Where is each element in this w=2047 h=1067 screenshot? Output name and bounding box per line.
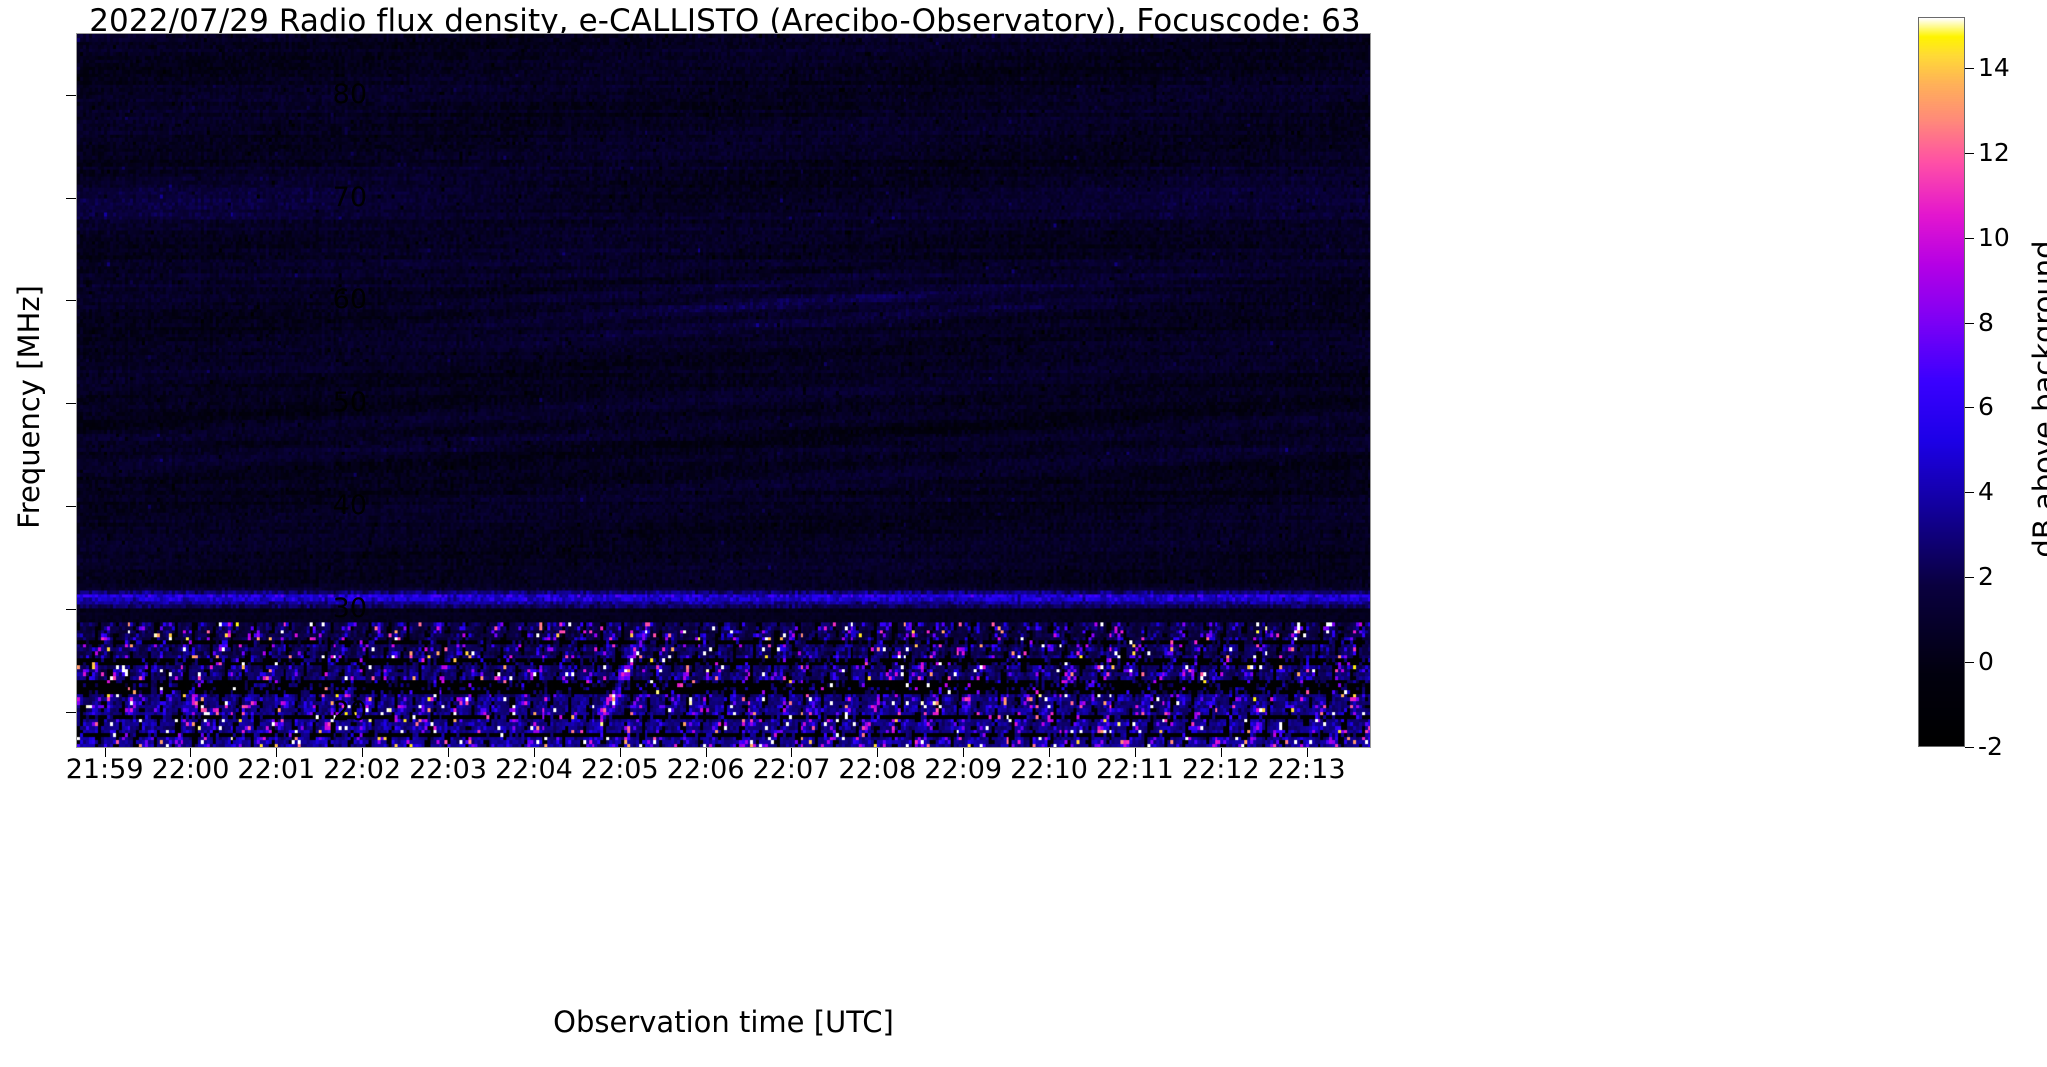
colorbar-tick-mark <box>1965 662 1974 663</box>
y-tick-label: 30 <box>247 595 367 622</box>
colorbar-tick-mark <box>1965 153 1974 154</box>
colorbar-tick-mark <box>1965 238 1974 239</box>
colorbar-tick-mark <box>1965 492 1974 493</box>
x-tick-label: 22:13 <box>1227 756 1387 783</box>
y-tick-mark <box>66 403 76 404</box>
colorbar-tick-mark <box>1965 577 1974 578</box>
y-tick-label: 40 <box>247 492 367 519</box>
colorbar-tick-label: -2 <box>1978 734 2040 759</box>
colorbar-label: dB above background <box>2027 99 2047 699</box>
figure-root: 2022/07/29 Radio flux density, e-CALLIST… <box>0 0 2047 1067</box>
colorbar-gradient <box>1919 18 1964 746</box>
y-tick-mark <box>66 506 76 507</box>
y-tick-label: 80 <box>247 81 367 108</box>
y-tick-mark <box>66 198 76 199</box>
y-axis-label: Frequency [MHz] <box>12 47 46 767</box>
colorbar-tick-mark <box>1965 747 1974 748</box>
colorbar-tick-mark <box>1965 68 1974 69</box>
colorbar-tick-mark <box>1965 323 1974 324</box>
y-tick-label: 20 <box>247 698 367 725</box>
y-tick-mark <box>66 609 76 610</box>
y-tick-mark <box>66 95 76 96</box>
y-tick-label: 50 <box>247 389 367 416</box>
y-tick-mark <box>66 300 76 301</box>
colorbar-tick-mark <box>1965 407 1974 408</box>
colorbar[interactable] <box>1918 17 1965 747</box>
y-tick-label: 70 <box>247 184 367 211</box>
y-tick-label: 60 <box>247 286 367 313</box>
y-tick-mark <box>66 712 76 713</box>
x-axis-label: Observation time [UTC] <box>76 1005 1371 1039</box>
colorbar-tick-label: 14 <box>1978 55 2040 80</box>
